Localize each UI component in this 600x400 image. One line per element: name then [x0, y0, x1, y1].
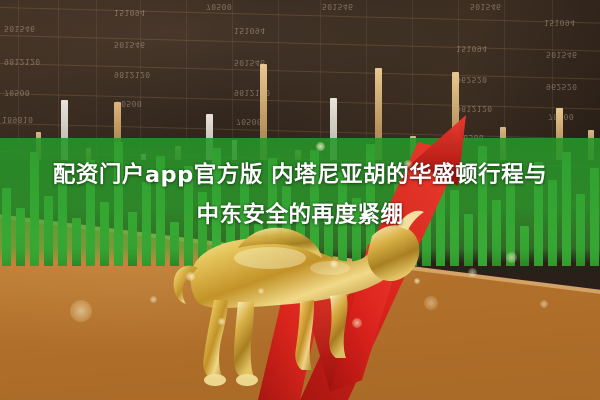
bokeh-light — [414, 278, 420, 284]
bokeh-light — [540, 300, 548, 308]
stock-news-banner: 501546 9812120 70500 189810 151094 50154… — [0, 0, 600, 400]
bokeh-light — [316, 142, 325, 151]
bokeh-light — [70, 300, 92, 322]
bokeh-light — [150, 296, 157, 303]
bokeh-light — [506, 252, 517, 263]
bokeh-light — [330, 260, 338, 268]
bokeh-light — [352, 318, 362, 328]
bokeh-light — [424, 296, 438, 310]
title-line-1: 配资门户app官方版 内塔尼亚胡的华盛顿行程与 — [0, 155, 600, 195]
title-line-2: 中东安全的再度紧绷 — [0, 195, 600, 235]
bokeh-light — [468, 268, 477, 277]
bokeh-light — [258, 288, 264, 294]
bokeh-light — [218, 318, 225, 325]
banner-title: 配资门户app官方版 内塔尼亚胡的华盛顿行程与 中东安全的再度紧绷 — [0, 155, 600, 235]
bokeh-light — [186, 272, 195, 281]
